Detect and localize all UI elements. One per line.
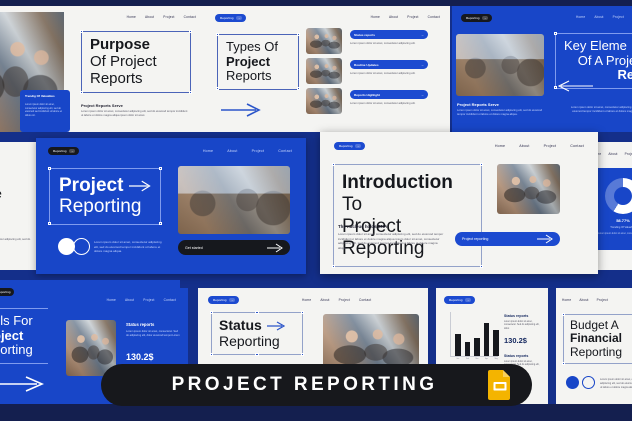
nav-item-about[interactable]: About <box>519 144 529 148</box>
nav-item-project[interactable]: Project <box>597 298 608 302</box>
stat-value: 58.77% <box>592 218 632 223</box>
resize-handle-bottom-right[interactable] <box>189 91 192 94</box>
decorative-circle-filled <box>566 376 579 389</box>
nav-item-project[interactable]: Project <box>407 15 418 19</box>
slide-photo <box>306 28 342 54</box>
nav-item-contact[interactable]: Contact <box>278 149 292 153</box>
decorative-circle-outline <box>73 238 90 255</box>
divider-top <box>0 0 632 6</box>
headline-line-2: Reporting <box>59 196 151 217</box>
slide-headline[interactable]: Types Of Project Reports <box>217 34 299 90</box>
nav-item-about[interactable]: About <box>145 15 154 19</box>
slide-subtitle: Status reports <box>126 322 154 327</box>
headline-line-1: Types Of <box>226 40 290 55</box>
nav-item-contact[interactable]: Contact <box>184 15 196 19</box>
stat-card-title: Trendig Of Valuables <box>25 95 65 99</box>
slide-body: Lorem ipsum dolor sit amet, consectetur … <box>81 110 189 118</box>
chart-bar <box>474 338 480 356</box>
slide-thumbnail-budget-financial[interactable]: Home About Project Budget A Financial Re… <box>556 288 632 414</box>
resize-handle-top-center[interactable] <box>255 311 258 314</box>
chart-bar <box>465 342 471 356</box>
tag-pill[interactable]: Reporting → <box>208 296 239 304</box>
arrow-right-icon <box>0 375 44 393</box>
template-title-banner: PROJECT REPORTING <box>101 364 532 406</box>
headline-line-1: Project <box>59 175 123 196</box>
headline-line-2: Of A Proje <box>564 54 632 69</box>
resize-handle-top-left[interactable] <box>210 311 213 314</box>
nav-item-home[interactable]: Home <box>495 144 505 148</box>
tag-label: Reporting <box>449 298 462 302</box>
arrow-right-icon: → <box>355 144 361 148</box>
resize-handle-bottom-right[interactable] <box>159 222 162 225</box>
arrow-right-icon <box>267 321 285 331</box>
slide-body: Lorem ipsum dolor sit amet, consectetur … <box>338 232 444 250</box>
resize-handle-bottom-left[interactable] <box>332 265 335 268</box>
slide-photo <box>178 166 290 234</box>
arrow-right-icon: → <box>69 149 75 153</box>
headline-line-3: Reports <box>226 69 290 84</box>
arrow-right-icon: → <box>236 16 242 20</box>
resize-handle-top-left[interactable] <box>562 313 565 316</box>
stat-value: 130.2$ <box>126 352 154 362</box>
slide-thumbnail-types[interactable]: Reporting → Home About Project Contact T… <box>206 6 450 132</box>
stat-body: Lorem ipsum dolor sit amet, consectetur.… <box>504 321 544 331</box>
slide-body-right: Lorem ipsum dolor sit amet, consectetur … <box>570 106 632 114</box>
chip-label: Routine Updates <box>354 63 379 67</box>
resize-handle-bottom-left[interactable] <box>48 222 51 225</box>
list-item-body: Lorem ipsum dolor sit amet, consectetur … <box>350 102 426 106</box>
google-slides-icon <box>488 370 512 400</box>
tag-pill[interactable]: Reporting <box>0 288 14 296</box>
nav-item-about[interactable]: About <box>227 149 237 153</box>
arrow-right-icon <box>537 234 553 244</box>
headline-line-2: Project <box>226 55 290 70</box>
slide-photo <box>497 164 560 214</box>
slide-nav: Home About Project Contact <box>302 298 371 302</box>
slide-subtitle: Project Reports Serve <box>81 103 123 108</box>
slide-nav: Home About Project Contact <box>371 15 440 19</box>
slide-thumbnail-purpose[interactable]: Home About Project Contact Trendig Of Va… <box>0 6 206 132</box>
decorative-circle-outline <box>582 376 595 389</box>
arrow-left-icon <box>558 80 594 92</box>
slide-subtitle: The nucleus holds DNA <box>338 224 387 229</box>
nav-item-about[interactable]: About <box>579 298 588 302</box>
tag-label: Reporting <box>466 16 479 20</box>
bar-chart: JanFebMarAprMay <box>446 312 498 360</box>
arrow-right-icon: → <box>421 33 424 37</box>
resize-handle-top-left[interactable] <box>80 30 83 33</box>
chart-x-tick-label: May <box>493 358 499 360</box>
slide-photo <box>306 88 342 114</box>
cta-label: Get started <box>185 246 203 250</box>
tag-pill[interactable]: Reporting → <box>334 142 365 150</box>
slide-nav: Home About Project <box>592 152 632 156</box>
slide-nav: Home About Project <box>562 298 608 302</box>
nav-item-about[interactable]: About <box>125 298 134 302</box>
tag-label: Reporting <box>220 16 233 20</box>
stat-body: Lorem ipsum dolor sit amet, consectetur. <box>598 233 632 236</box>
headline-line-2: Financial <box>570 332 632 345</box>
resize-handle-top-left[interactable] <box>332 163 335 166</box>
chart-x-tick-label: Jan <box>455 358 461 360</box>
project-reporting-button[interactable]: Project reporting <box>455 232 560 246</box>
resize-handle-top-left[interactable] <box>48 167 51 170</box>
get-started-button[interactable]: Get started <box>178 240 290 255</box>
slide-headline[interactable]: Budget A Financial Reporting <box>563 314 632 364</box>
nav-item-project[interactable]: Project <box>163 15 174 19</box>
headline-line-1: Purpose <box>90 37 182 54</box>
chip-label: Status reports <box>354 33 375 37</box>
donut-chart <box>605 178 632 214</box>
slide-headline[interactable]: Introduction To Project Reporting <box>333 164 482 267</box>
nav-item-home[interactable]: Home <box>107 298 116 302</box>
tag-label: Reporting <box>213 298 226 302</box>
chart-bar <box>455 334 461 356</box>
slide-thumbnail-introduction[interactable]: Reporting → Home About Project Contact I… <box>320 132 598 274</box>
stat-title: Status reports <box>504 314 528 318</box>
stat-label: Trending Of Valuables <box>592 226 632 229</box>
resize-handle-top-right[interactable] <box>301 311 304 314</box>
nav-item-about[interactable]: About <box>608 152 617 156</box>
slide-nav: Home About Project Contact <box>127 15 196 19</box>
tag-label: Reporting <box>339 144 352 148</box>
resize-handle-bottom-left[interactable] <box>216 87 219 90</box>
nav-item-about[interactable]: About <box>594 15 603 19</box>
nav-item-home[interactable]: Home <box>371 15 380 19</box>
stat-value: 130.2$ <box>504 336 527 345</box>
tag-pill[interactable]: Reporting → <box>444 296 475 304</box>
arrow-right-icon: → <box>421 93 424 97</box>
slide-thumbnail-project-reporting[interactable]: Reporting → Home About Project Contact P… <box>36 138 306 274</box>
stat-card: Trendig Of Valuables Lorem ipsum dolor s… <box>20 90 70 132</box>
headline-line-2: Of Project <box>90 54 182 71</box>
resize-handle-bottom-center[interactable] <box>255 353 258 356</box>
tag-pill[interactable]: Reporting → <box>215 14 246 22</box>
arrow-right-icon: → <box>421 63 424 67</box>
nav-item-home[interactable]: Home <box>203 149 213 153</box>
nav-item-about[interactable]: About <box>389 15 398 19</box>
resize-handle-top-left[interactable] <box>216 33 219 36</box>
chart-x-tick-label: Mar <box>474 358 480 360</box>
resize-handle-bottom-left[interactable] <box>80 91 83 94</box>
headline-line-1: Key Eleme <box>564 39 632 54</box>
headline-line-2: To <box>342 194 362 215</box>
headline-line-1: Budget A <box>570 319 632 332</box>
resize-handle-top-right[interactable] <box>480 163 483 166</box>
resize-handle-top-right[interactable] <box>189 30 192 33</box>
slide-headline[interactable]: Status Reporting <box>211 312 303 355</box>
chip-label: Reports Highlight <box>354 93 380 97</box>
list-item-routine-updates[interactable]: Routine Updates → <box>350 60 428 69</box>
resize-handle-bottom-left[interactable] <box>210 353 213 356</box>
list-item-body: Lorem ipsum dolor sit amet, consectetur … <box>350 72 426 76</box>
chart-bar <box>484 323 490 356</box>
arrow-right-icon: → <box>465 298 471 302</box>
resize-handle-bottom-right[interactable] <box>297 87 300 90</box>
slide-nav: Home About Project Contact <box>203 149 292 153</box>
slide-photo <box>306 58 342 84</box>
nav-item-project[interactable]: Project <box>339 298 350 302</box>
nav-item-about[interactable]: About <box>320 298 329 302</box>
nav-item-home[interactable]: Home <box>302 298 311 302</box>
resize-handle-bottom-left[interactable] <box>554 86 557 89</box>
list-item-body: Lorem ipsum dolor sit amet, consectetur … <box>350 42 426 46</box>
slide-headline[interactable]: Project Reporting <box>49 168 161 225</box>
tag-label: Reporting <box>0 290 10 294</box>
chart-y-axis <box>450 312 451 356</box>
arrow-right-icon <box>129 180 151 192</box>
resize-handle-bottom-right[interactable] <box>480 265 483 268</box>
resize-handle-top-right[interactable] <box>297 33 300 36</box>
arrow-right-icon <box>220 102 262 118</box>
resize-handle-bottom-left[interactable] <box>562 362 565 365</box>
chart-x-tick-label: Feb <box>465 358 471 360</box>
nav-item-contact[interactable]: Contact <box>428 15 440 19</box>
slide-nav: Home About Project Contact <box>495 144 584 148</box>
nav-item-home[interactable]: Home <box>576 15 585 19</box>
nav-item-home[interactable]: Home <box>127 15 136 19</box>
arrow-right-icon: → <box>482 16 488 20</box>
resize-handle-top-right[interactable] <box>159 167 162 170</box>
chart-x-tick-label: Apr <box>484 358 490 360</box>
slide-body: Lorem ipsum dolor sit amet, consectetur … <box>457 109 543 117</box>
arrow-right-icon: → <box>229 298 235 302</box>
slide-body: Lorem ipsum dolor sit amet, consectetur.… <box>126 330 180 338</box>
nav-item-contact[interactable]: Contact <box>359 298 371 302</box>
divider-bottom <box>0 404 632 421</box>
slide-subtitle: Project Reports Serve <box>457 102 499 107</box>
list-item-reports-highlight[interactable]: Reports Highlight → <box>350 90 428 99</box>
slide-nav: Home About Project Contact <box>107 298 176 302</box>
list-item-status-reports[interactable]: Status reports → <box>350 30 428 39</box>
stat-card: 58.77% Trending Of Valuables Lorem ipsum… <box>592 168 632 250</box>
banner-title: PROJECT REPORTING <box>101 374 488 396</box>
slide-thumbnail-key-elements[interactable]: Reporting → Home About Project Project R… <box>452 6 632 132</box>
slide-body: Lorem ipsum dolor sit amet, consectetur … <box>94 240 164 254</box>
nav-item-project[interactable]: Project <box>252 149 265 153</box>
headline-line-1: Introduction <box>342 172 453 193</box>
nav-item-project[interactable]: Project <box>544 144 557 148</box>
tag-label: Reporting <box>53 149 66 153</box>
tag-pill[interactable]: Reporting → <box>48 147 79 155</box>
stat-card-body: Lorem ipsum dolor sit amet, consectetur … <box>25 103 65 117</box>
nav-item-project[interactable]: Project <box>613 15 624 19</box>
nav-item-contact[interactable]: Contact <box>164 298 176 302</box>
arrow-right-icon <box>267 243 283 253</box>
chart-x-axis <box>450 356 498 357</box>
resize-handle-top-left[interactable] <box>554 32 557 35</box>
nav-item-contact[interactable]: Contact <box>570 144 584 148</box>
resize-handle-bottom-right[interactable] <box>301 353 304 356</box>
headline-line-1: Status <box>219 318 262 334</box>
slide-headline[interactable]: Purpose Of Project Reports <box>81 31 191 93</box>
slide-body: Lorem ipsum dolor sit amet, consectetur … <box>600 378 632 389</box>
nav-item-project[interactable]: Project <box>143 298 154 302</box>
slide-photo <box>456 34 544 96</box>
nav-item-project[interactable]: Project <box>625 152 632 156</box>
nav-item-home[interactable]: Home <box>562 298 571 302</box>
stat-title: Status reports <box>504 354 528 358</box>
slide-body: Lorem ipsum dolor sit amet, consectetur … <box>0 238 40 246</box>
headline-line-3: Reports <box>90 71 182 88</box>
tag-pill[interactable]: Reporting → <box>461 14 492 22</box>
slide-nav: Home About Project <box>576 15 624 19</box>
cta-label: Project reporting <box>462 237 488 241</box>
template-preview-mosaic: Home About Project Contact Trendig Of Va… <box>0 0 632 421</box>
headline-line-3: Reporting <box>570 346 632 359</box>
chart-bar <box>493 330 499 356</box>
headline-line-2: Reporting <box>219 334 295 350</box>
